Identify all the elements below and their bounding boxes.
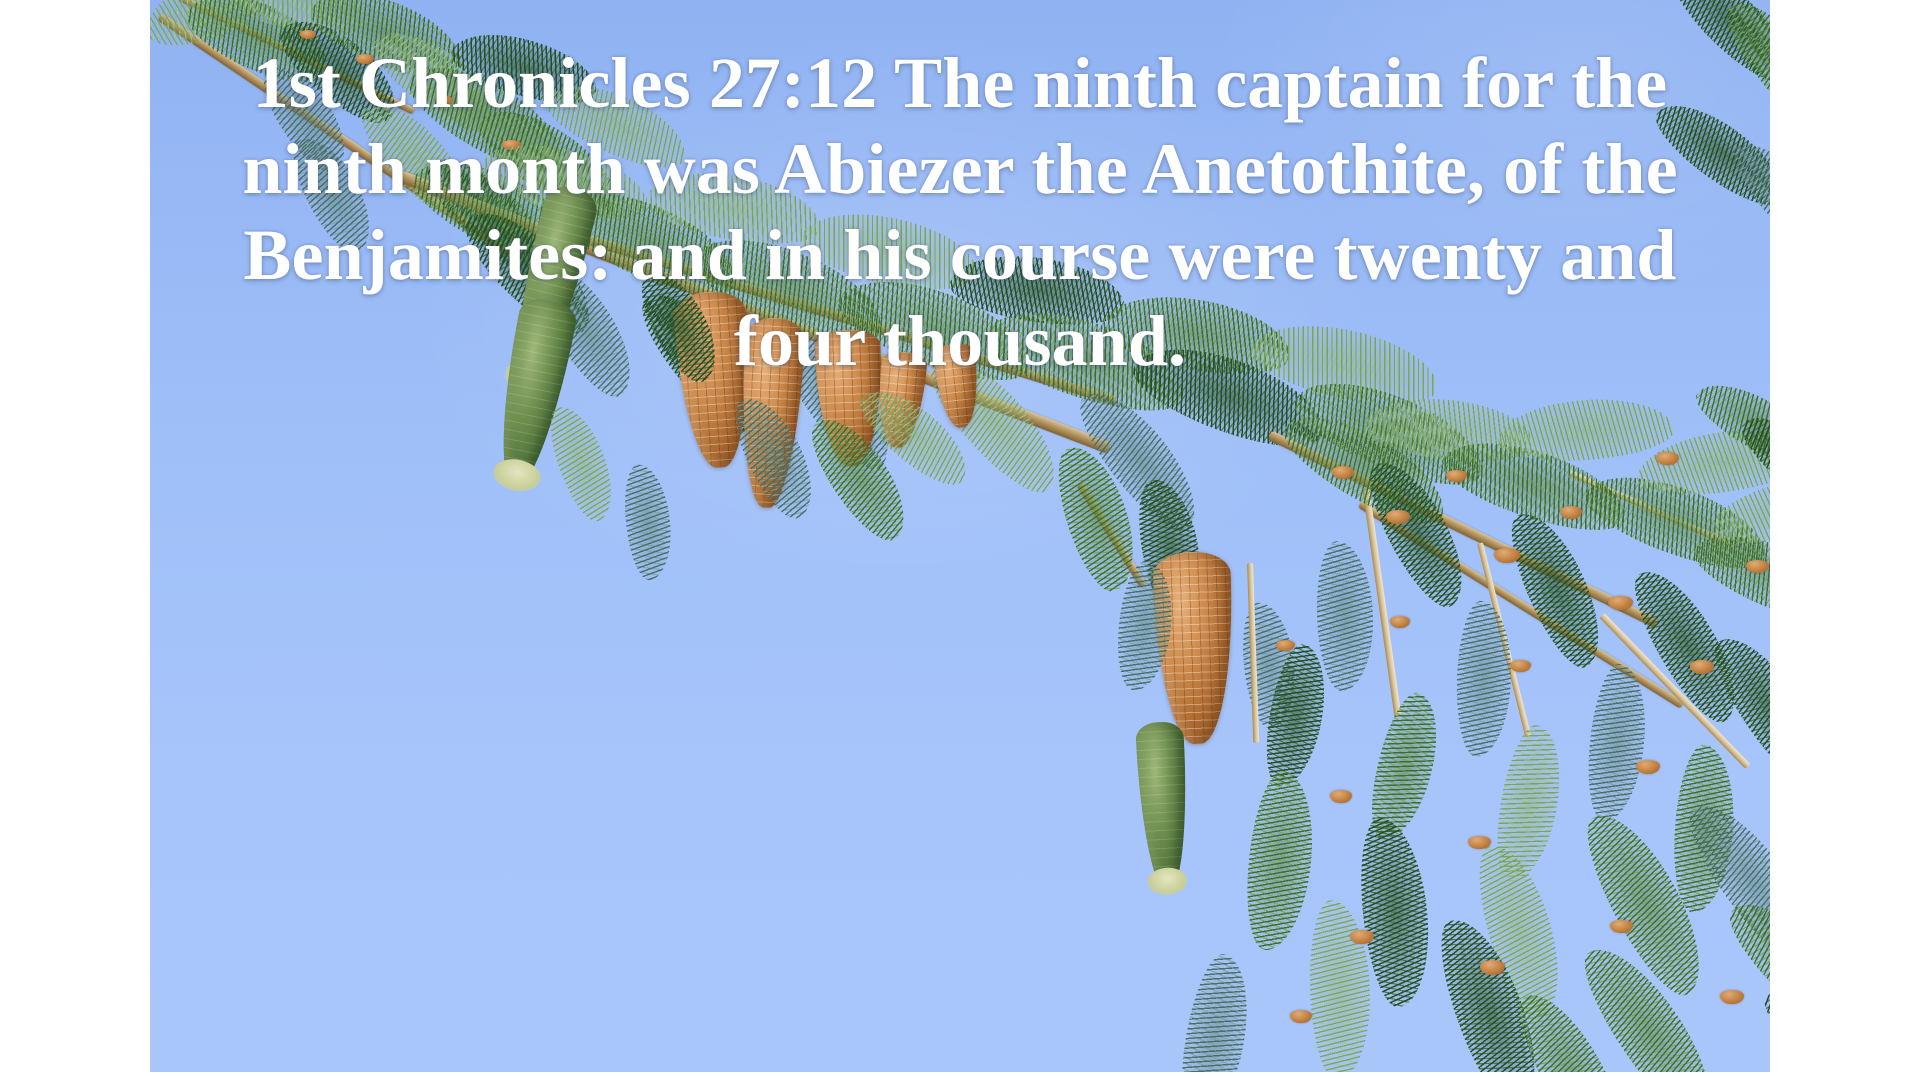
background-photo <box>150 0 1770 1072</box>
page-canvas: 1st Chronicles 27:12 The ninth captain f… <box>0 0 1920 1080</box>
